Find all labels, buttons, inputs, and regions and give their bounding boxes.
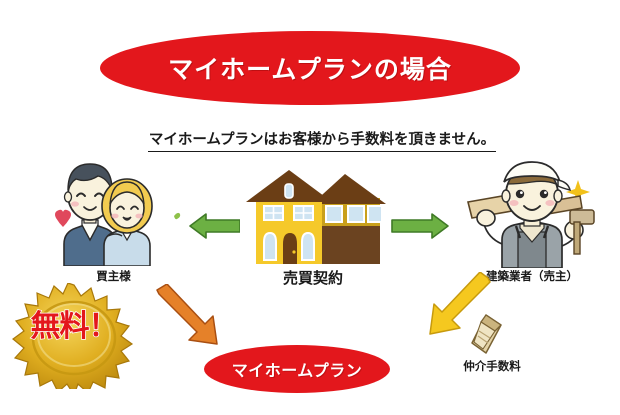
arrow-house-to-buyers — [188, 212, 240, 240]
arrow-diagonal-down-right-icon — [155, 284, 227, 350]
house-illustration — [240, 168, 386, 264]
buyers-label: 買主様 — [46, 268, 181, 284]
carpenter-icon — [462, 158, 602, 268]
couple-icon — [46, 158, 181, 266]
fee-illustration — [468, 313, 506, 355]
house-icon — [240, 168, 386, 264]
page-title: マイホームプランの場合 — [168, 50, 452, 86]
builder-illustration — [462, 158, 602, 268]
arrow-left-icon — [188, 212, 240, 240]
arrow-right-icon — [390, 212, 450, 240]
subtitle-text: マイホームプランはお客様から手数料を頂きません。 — [148, 128, 496, 152]
free-badge-label: 無料！ — [12, 312, 136, 342]
diagram-canvas: マイホームプランの場合 マイホームプランはお客様から手数料を頂きません。 — [0, 0, 620, 415]
arrow-house-to-builder — [390, 212, 450, 240]
arrow-buyers-to-plan — [155, 284, 227, 350]
plan-banner: マイホームプラン — [204, 345, 390, 393]
fee-label: 仲介手数料 — [440, 358, 544, 374]
house-label: 売買契約 — [235, 267, 391, 288]
buyers-illustration — [46, 158, 181, 266]
plan-label: マイホームプラン — [232, 357, 363, 381]
gold-bar-icon — [468, 313, 506, 355]
title-banner: マイホームプランの場合 — [100, 31, 520, 105]
